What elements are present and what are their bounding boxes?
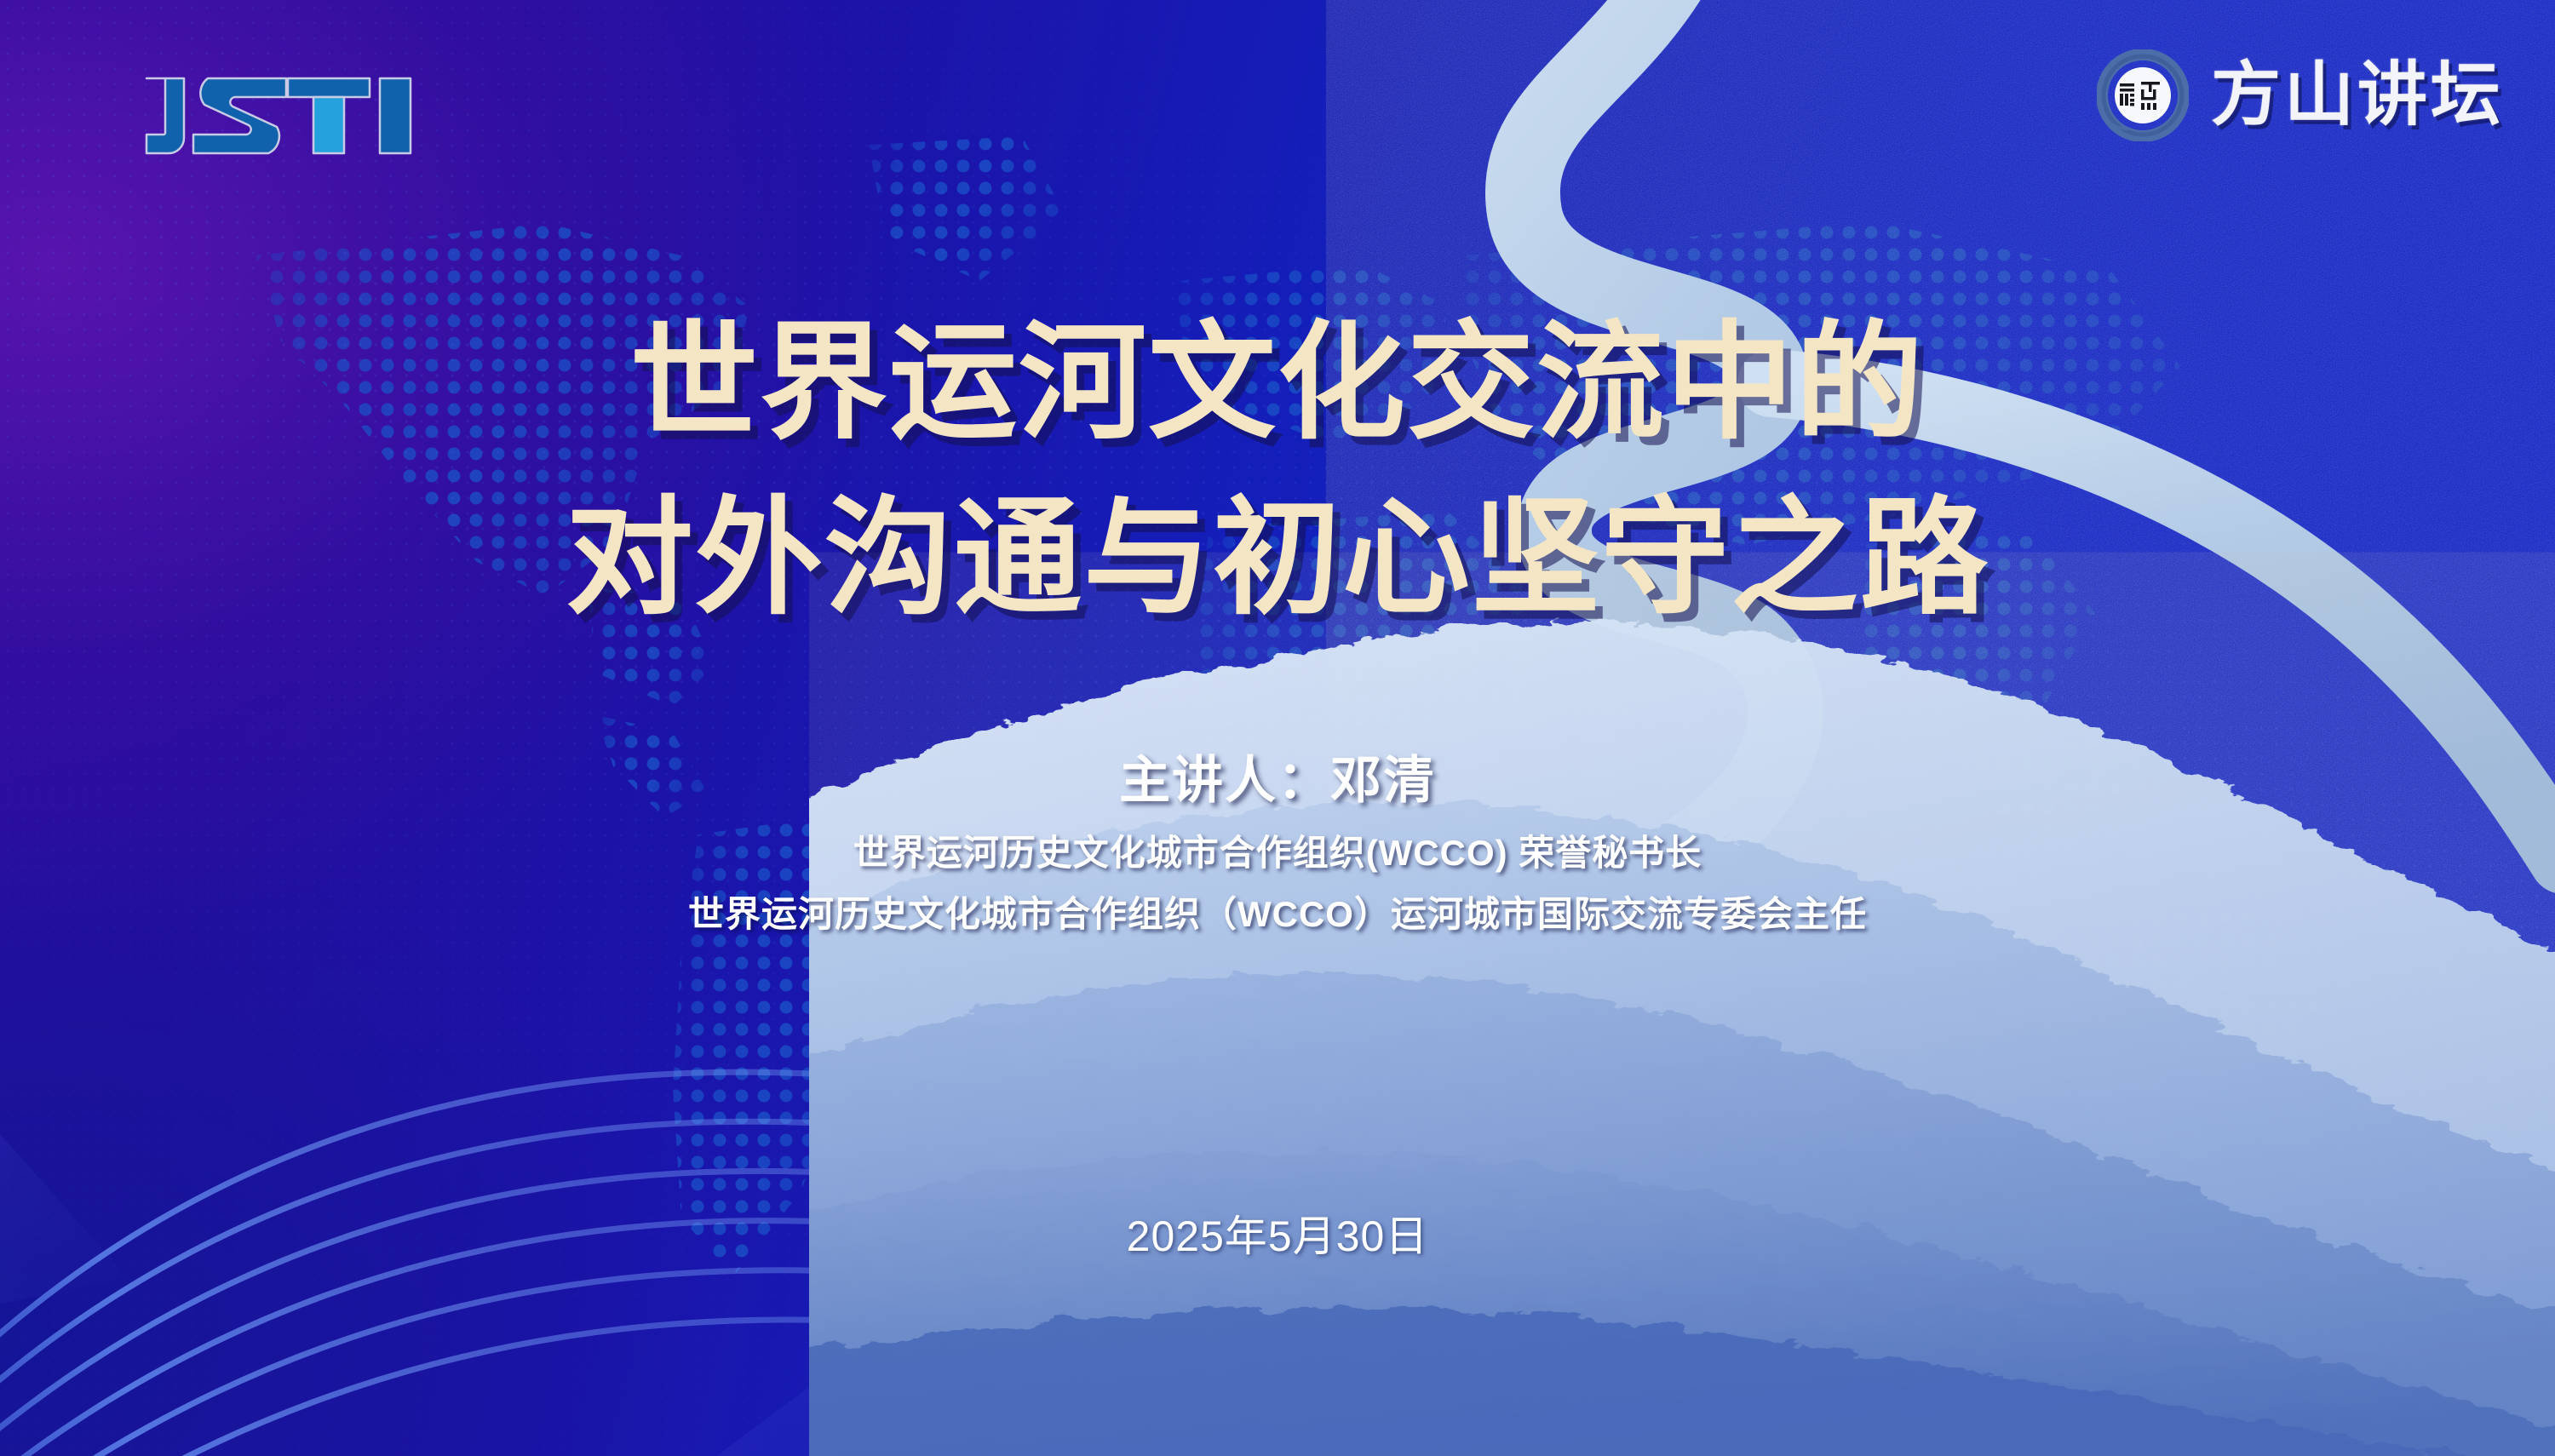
forum-wordmark: 方山讲坛 (2211, 60, 2504, 130)
jsti-logo: JSTI (143, 75, 414, 157)
speaker-affiliation-1: 世界运河历史文化城市合作组织(WCCO) 荣誉秘书长 (0, 824, 2555, 876)
speaker-name: 主讲人：邓清 (0, 739, 2555, 813)
presentation-slide: JSTI 方山讲坛 世界运河文化交流中的 (0, 0, 2555, 1456)
circular-brush-seal-icon (2097, 49, 2189, 141)
fangshan-forum-logo: 方山讲坛 (2097, 49, 2504, 141)
presentation-date: 2025年5月30日 (0, 1202, 2555, 1264)
speaker-affiliation-2: 世界运河历史文化城市合作组织（WCCO）运河城市国际交流专委会主任 (0, 886, 2555, 937)
